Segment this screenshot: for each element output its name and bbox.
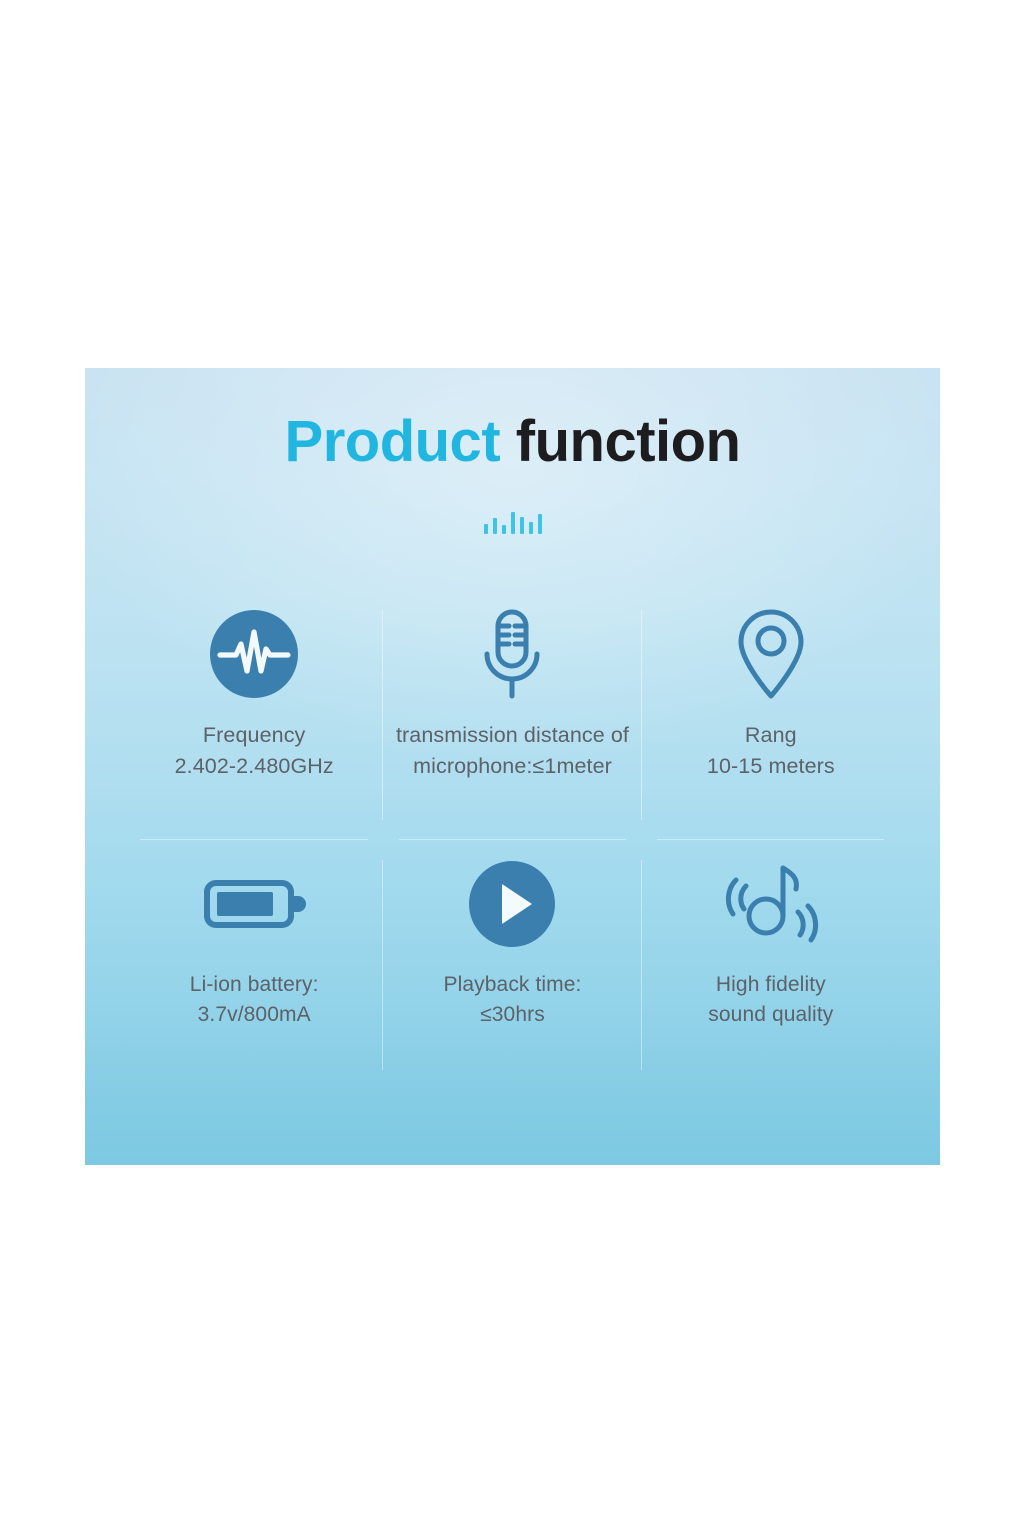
feature-caption: High fidelity sound quality	[708, 970, 833, 1030]
map-pin-icon	[729, 600, 813, 708]
equalizer-bar	[529, 522, 533, 534]
feature-line-2: 3.7v/800mA	[190, 1000, 319, 1030]
feature-line-1: Playback time:	[444, 973, 582, 996]
feature-cell-playback: Playback time: ≤30hrs	[383, 840, 641, 1090]
music-note-sound-icon	[716, 850, 826, 958]
feature-caption: Li-ion battery: 3.7v/800mA	[190, 970, 319, 1030]
equalizer-bar	[493, 518, 497, 534]
feature-line-2: 2.402-2.480GHz	[175, 751, 334, 782]
play-circle-icon	[467, 850, 557, 958]
feature-cell-frequency: Frequency 2.402-2.480GHz	[125, 590, 383, 840]
equalizer-bars-icon	[85, 504, 940, 534]
feature-cell-battery: Li-ion battery: 3.7v/800mA	[125, 840, 383, 1090]
microphone-icon	[472, 600, 552, 708]
feature-grid: Frequency 2.402-2.480GHz	[125, 590, 900, 1090]
feature-line-2: microphone:≤1meter	[396, 751, 629, 782]
feature-caption: Playback time: ≤30hrs	[444, 970, 582, 1030]
feature-line-1: Frequency	[203, 723, 305, 747]
title-accent-word: Product	[285, 409, 501, 474]
feature-cell-mic-distance: transmission distance of microphone:≤1me…	[383, 590, 641, 840]
title-dark-word: function	[516, 409, 741, 474]
battery-icon	[202, 850, 306, 958]
feature-line-1: High fidelity	[716, 973, 826, 996]
equalizer-bar	[520, 517, 524, 534]
feature-caption: Rang 10-15 meters	[707, 720, 835, 781]
feature-line-2: sound quality	[708, 1000, 833, 1030]
feature-line-1: Li-ion battery:	[190, 973, 319, 996]
page-root: Product function Frequency 2.402-2.480GH…	[0, 0, 1024, 1536]
equalizer-bar	[502, 525, 506, 534]
equalizer-bar	[538, 514, 542, 534]
feature-line-1: transmission distance of	[396, 723, 629, 747]
feature-line-2: 10-15 meters	[707, 751, 835, 782]
page-title: Product function	[85, 412, 940, 473]
feature-cell-range: Rang 10-15 meters	[642, 590, 900, 840]
feature-line-1: Rang	[745, 723, 797, 747]
product-function-banner: Product function Frequency 2.402-2.480GH…	[85, 368, 940, 1165]
equalizer-bar	[484, 524, 488, 534]
feature-line-2: ≤30hrs	[444, 1000, 582, 1030]
feature-caption: transmission distance of microphone:≤1me…	[396, 720, 629, 781]
feature-cell-fidelity: High fidelity sound quality	[642, 840, 900, 1090]
pulse-waveform-circle-icon	[208, 600, 300, 708]
equalizer-bar	[511, 512, 515, 534]
feature-caption: Frequency 2.402-2.480GHz	[175, 720, 334, 781]
